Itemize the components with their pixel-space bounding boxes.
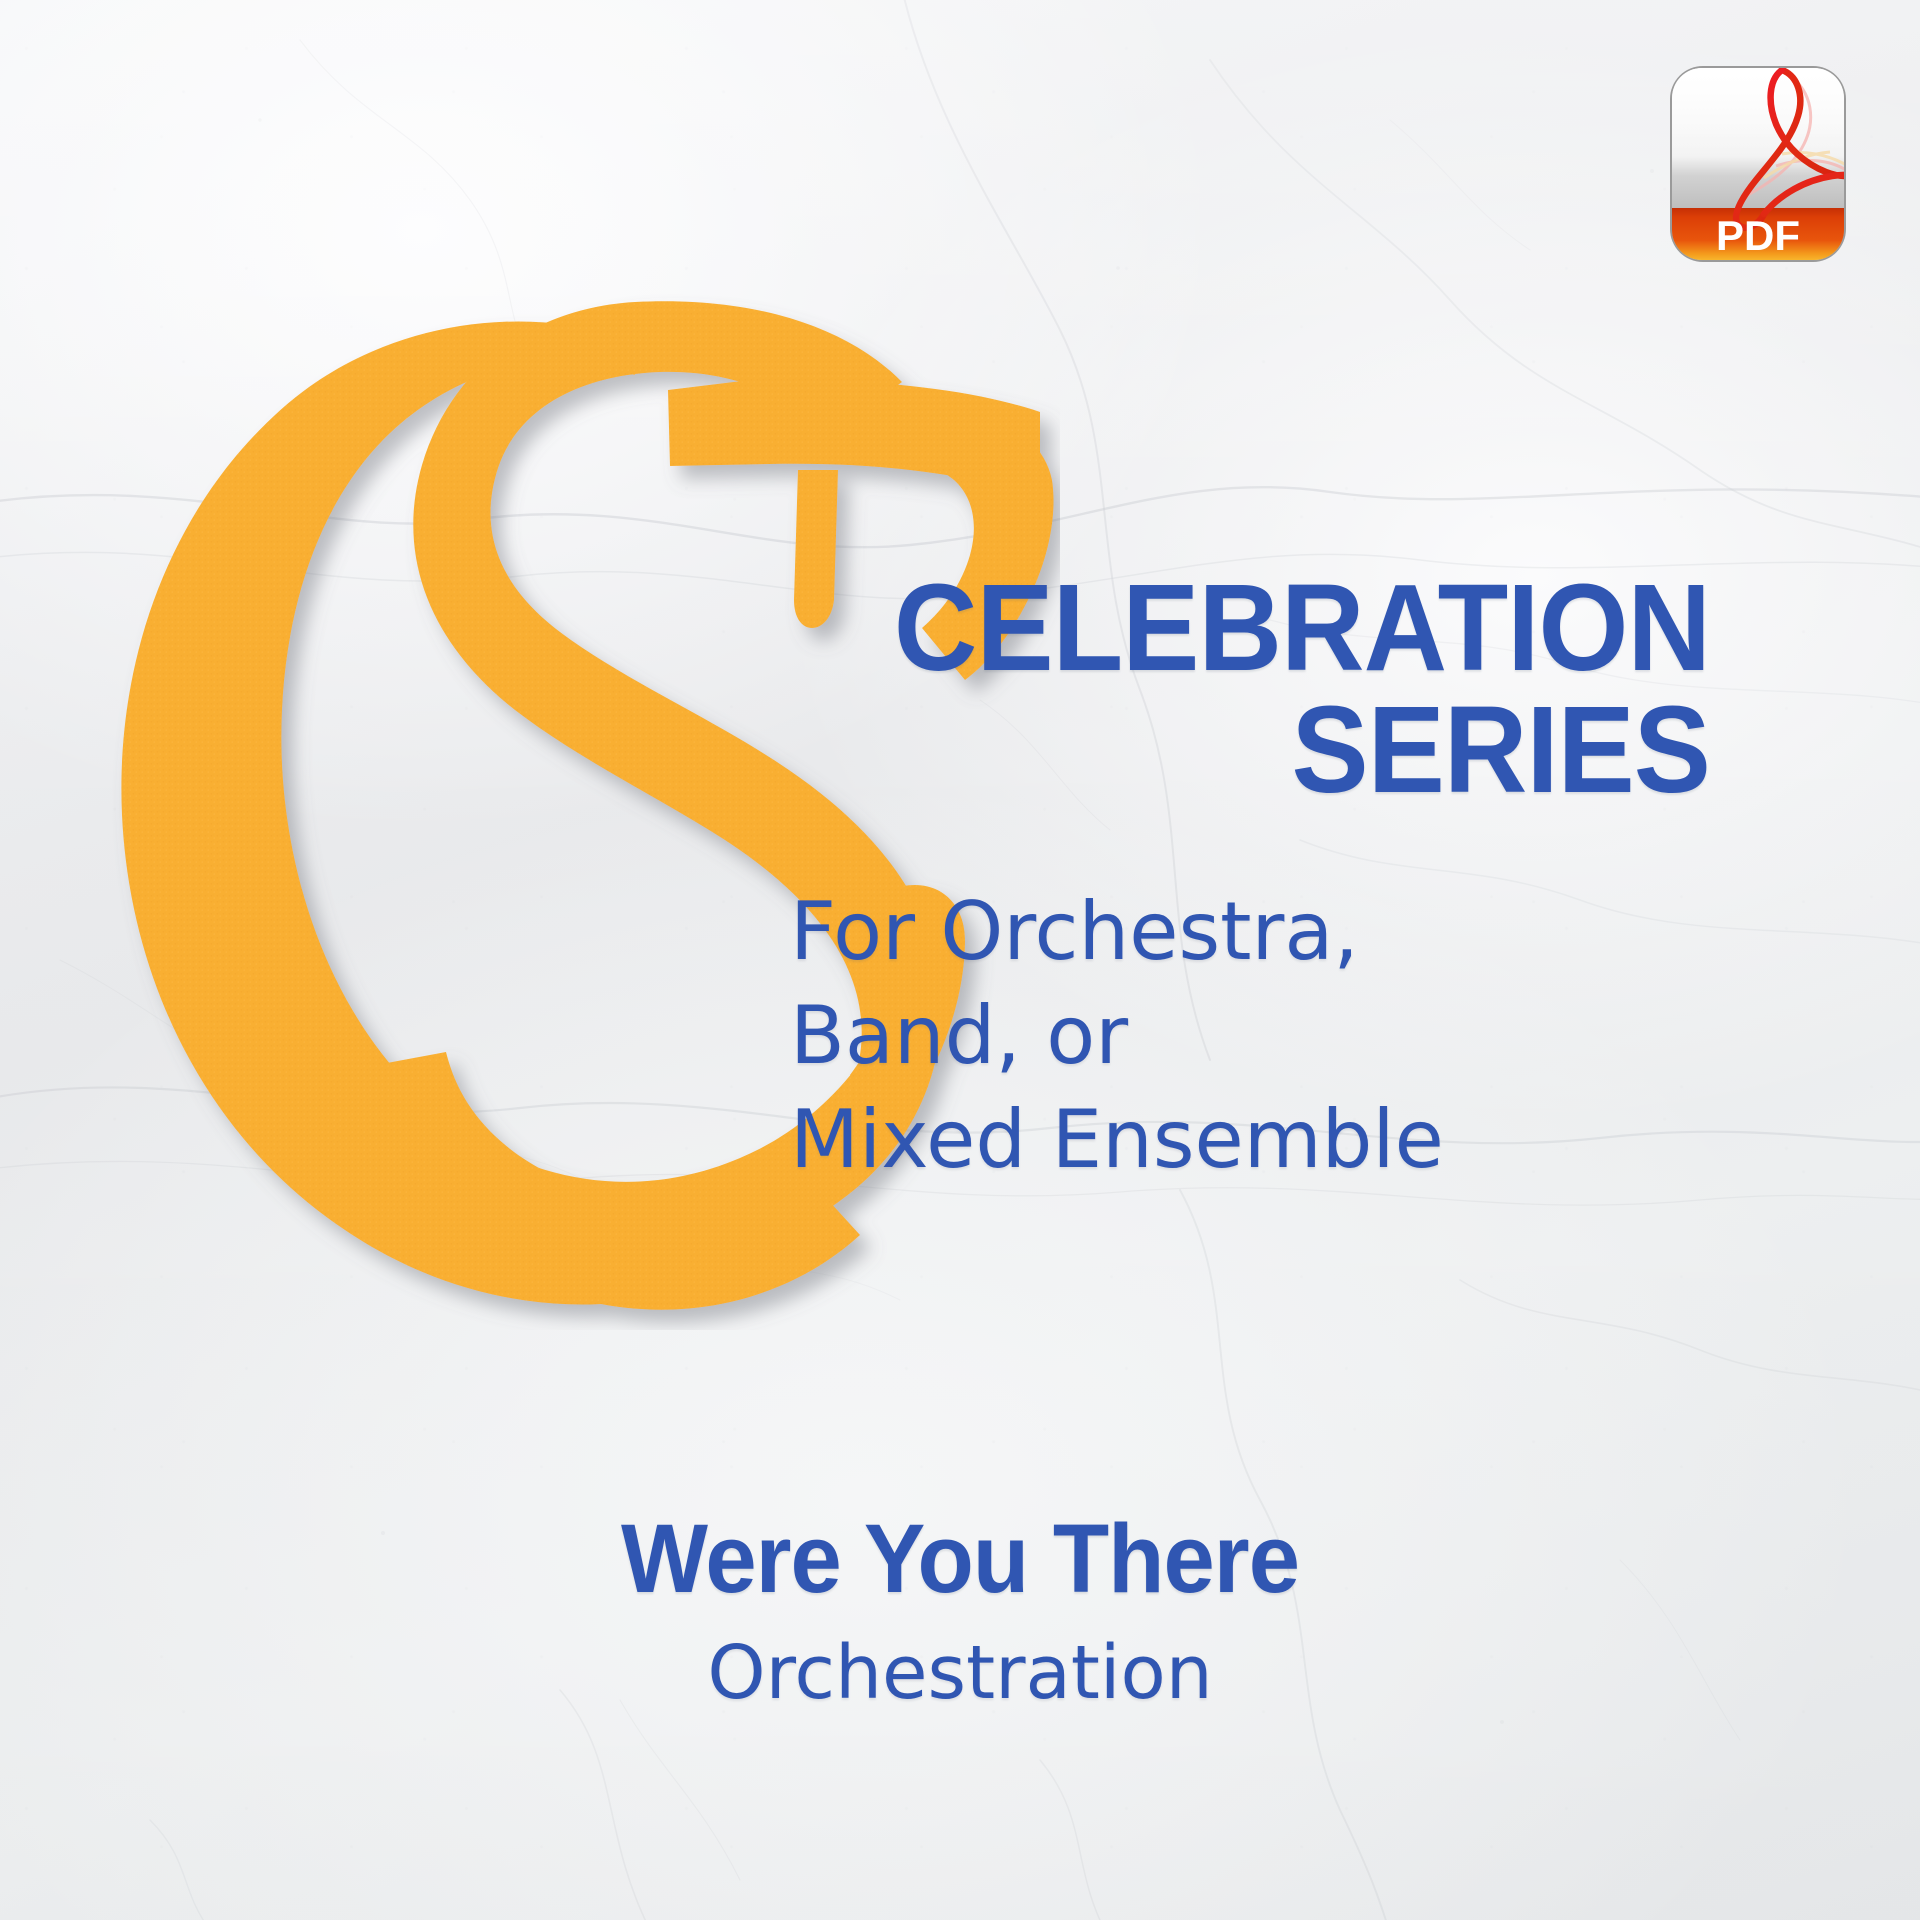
series-subtitle-line-1: For Orchestra,	[790, 880, 1715, 984]
series-subtitle: For Orchestra, Band, or Mixed Ensemble	[790, 880, 1715, 1192]
product-cover: CELEBRATION SERIES For Orchestra, Band, …	[0, 0, 1920, 1920]
series-title: CELEBRATION SERIES	[723, 568, 1710, 812]
pdf-icon-label: PDF	[1716, 212, 1800, 259]
series-title-line-2: SERIES	[723, 690, 1710, 812]
piece-subtitle: Orchestration	[0, 1635, 1920, 1713]
piece-title: Were You There	[48, 1510, 1872, 1609]
pdf-icon-gloss	[1672, 68, 1844, 154]
series-subtitle-line-2: Band, or	[790, 984, 1715, 1088]
pdf-file-icon[interactable]: PDF	[1664, 58, 1856, 274]
piece-block: Were You There Orchestration	[0, 1510, 1920, 1713]
series-title-line-1: CELEBRATION	[723, 568, 1710, 690]
series-subtitle-line-3: Mixed Ensemble	[790, 1088, 1715, 1192]
